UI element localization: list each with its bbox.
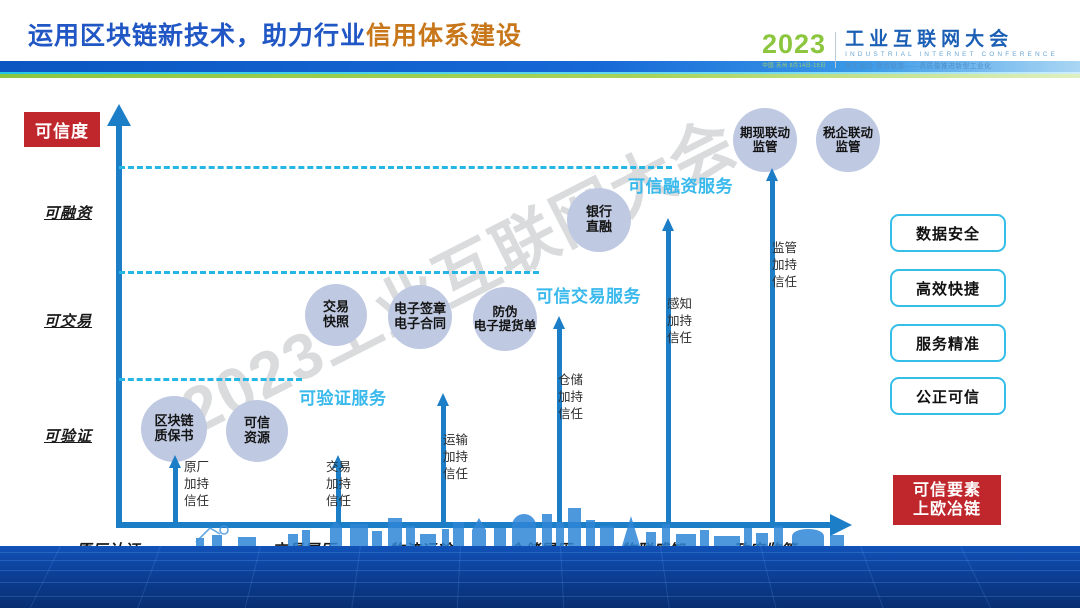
bubble-trusted-resource[interactable]: 可信 资源 [226,400,288,462]
arrow-head-icon [437,393,449,406]
bubble-tax-enterprise-linked-supervision[interactable]: 税企联动 监管 [816,108,880,172]
logo-year-block: 2023 中国·苏州 8月14日-15日 [762,31,835,69]
y-axis-title: 可信度 [24,112,100,147]
city-skyline-graphic [0,504,1080,546]
feature-pill-label: 数据安全 [916,223,980,244]
arrow-head-icon [662,218,674,231]
logo-name-en: INDUSTRIAL INTERNET CONFERENCE [845,51,1058,58]
y-axis-line [116,122,122,528]
trust-arrow-label-supervision: 监管 加持 信任 [772,240,797,291]
band-label-trusted-trade-service: 可信交易服务 [536,282,641,307]
bubble-bank-direct-financing[interactable]: 银行 直融 [567,188,631,252]
bubble-futures-spot-linked-supervision[interactable]: 期现联动 监管 [733,108,797,172]
bubble-label: 可信 资源 [244,416,270,445]
logo-year-subtitle: 中国·苏州 8月14日-15日 [762,61,826,69]
skyline-icon [0,504,1080,546]
callout-line-1: 可信要素 [913,481,981,500]
page-title-highlight: 信用体系建设 [366,22,522,50]
feature-pill-precise-service[interactable]: 服务精准 [890,324,1006,362]
feature-pill-label: 公正可信 [916,386,980,407]
bubble-anti-counterfeit-delivery-order[interactable]: 防伪 电子提货单 [473,287,537,351]
arrow-head-icon [553,316,565,329]
arrow-shaft [666,230,671,523]
logo-year: 2023 [762,31,826,58]
logo-divider [835,32,836,68]
gridline-trading [119,271,539,274]
bubble-label: 银行 直融 [586,205,612,234]
gridline-verifiable [119,378,302,381]
arrow-shaft [770,180,775,523]
bubble-label: 电子签章 电子合同 [394,302,446,331]
trust-arrow-label-factory: 原厂 加持 信任 [184,459,209,510]
arrow-head-icon [169,455,181,468]
feature-pill-label: 服务精准 [916,333,980,354]
bubble-label: 期现联动 监管 [740,126,790,154]
logo-tagline: 数实融合 数智赋能——高质量推进新型工业化 [845,60,1058,70]
header-green-line [0,74,1080,78]
arrow-shaft [557,328,562,523]
page-title: 运用区块链新技术，助力行业信用体系建设 [28,16,522,52]
bubble-label: 防伪 电子提货单 [474,305,537,333]
bubble-blockchain-warranty[interactable]: 区块链 质保书 [141,396,207,462]
y-axis-arrowhead-icon [107,104,131,126]
band-label-trusted-financing-service: 可信融资服务 [628,172,733,197]
band-label-verifiable-service: 可验证服务 [299,384,387,409]
bubble-label: 税企联动 监管 [823,126,873,154]
trust-arrow-label-sensing: 感知 加持 信任 [667,296,692,347]
page-title-main: 运用区块链新技术，助力行业 [28,22,366,50]
feature-pill-efficient[interactable]: 高效快捷 [890,269,1006,307]
slide-root: 运用区块链新技术，助力行业信用体系建设 2023 中国·苏州 8月14日-15日… [0,0,1080,608]
bottom-grid-band [0,546,1080,608]
logo-name-cn: 工业互联网大会 [845,30,1058,50]
trust-arrow-label-warehouse: 仓储 加持 信任 [558,372,583,423]
bubble-label: 交易 快照 [323,300,349,329]
y-tick-financing: 可融资 [44,202,92,223]
y-tick-trading: 可交易 [44,310,92,331]
y-tick-verifiable: 可验证 [44,425,92,446]
bubble-trade-snapshot[interactable]: 交易 快照 [305,284,367,346]
feature-pill-fair-trusted[interactable]: 公正可信 [890,377,1006,415]
gridline-financing [119,166,672,169]
bubble-e-signature-contract[interactable]: 电子签章 电子合同 [388,285,452,349]
arrow-head-icon [766,168,778,181]
trust-arrow-label-transport: 运输 加持 信任 [443,432,468,483]
conference-logo: 2023 中国·苏州 8月14日-15日 工业互联网大会 INDUSTRIAL … [762,26,1062,74]
bubble-label: 区块链 质保书 [154,414,193,443]
trust-arrow-label-trade: 交易 加持 信任 [326,459,351,510]
feature-pill-label: 高效快捷 [916,278,980,299]
logo-name-block: 工业互联网大会 INDUSTRIAL INTERNET CONFERENCE 数… [845,30,1058,71]
feature-pill-data-security[interactable]: 数据安全 [890,214,1006,252]
